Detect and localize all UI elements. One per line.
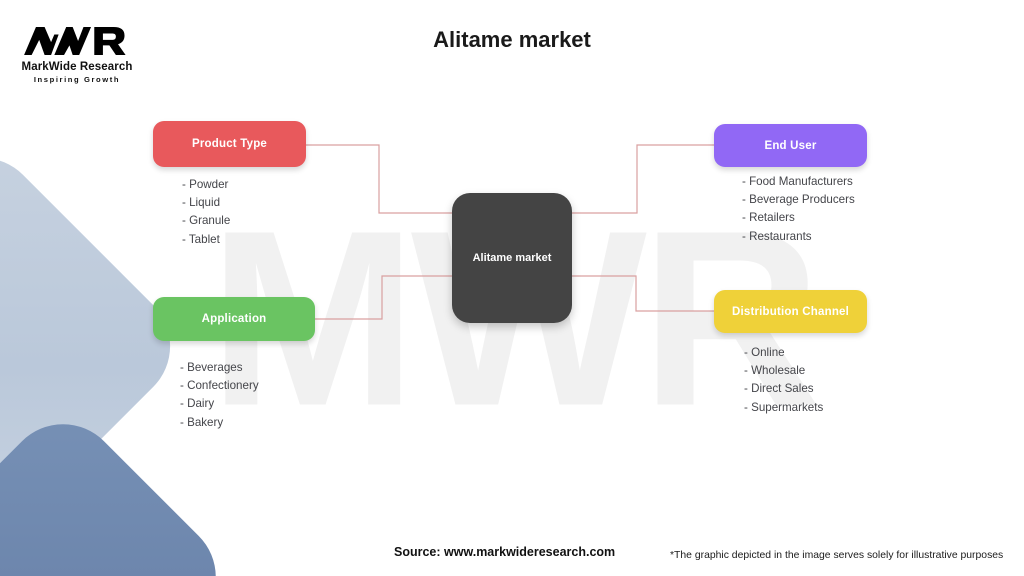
branch-node-end-user[interactable]: End User	[714, 124, 867, 167]
list-item: - Confectionery	[180, 377, 259, 395]
branch-label-end-user: End User	[764, 140, 816, 152]
list-item: - Retailers	[742, 209, 855, 227]
connector-application	[315, 276, 452, 319]
center-node-label: Alitame market	[473, 252, 552, 264]
connector-end-user	[572, 145, 714, 213]
slide-canvas: MWR MarkWide Research Inspiring Growth A…	[0, 0, 1024, 576]
list-item: - Liquid	[182, 194, 230, 212]
list-item: - Beverage Producers	[742, 191, 855, 209]
branch-node-distribution-channel[interactable]: Distribution Channel	[714, 290, 867, 333]
list-item: - Beverages	[180, 359, 259, 377]
bullet-list-distribution-channel: - Online - Wholesale - Direct Sales - Su…	[744, 344, 823, 417]
center-node[interactable]: Alitame market	[452, 193, 572, 323]
list-item: - Powder	[182, 176, 230, 194]
list-item: - Dairy	[180, 395, 259, 413]
list-item: - Supermarkets	[744, 399, 823, 417]
list-item: - Granule	[182, 212, 230, 230]
list-item: - Bakery	[180, 414, 259, 432]
branch-label-application: Application	[202, 313, 267, 325]
source-text: Source: www.markwideresearch.com	[394, 545, 615, 559]
branch-node-product-type[interactable]: Product Type	[153, 121, 306, 167]
list-item: - Wholesale	[744, 362, 823, 380]
connector-product-type	[306, 145, 452, 213]
bullet-list-application: - Beverages - Confectionery - Dairy - Ba…	[180, 359, 259, 432]
bullet-list-product-type: - Powder - Liquid - Granule - Tablet	[182, 176, 230, 249]
list-item: - Restaurants	[742, 228, 855, 246]
branch-label-product-type: Product Type	[192, 138, 267, 150]
connector-distribution-channel	[572, 276, 714, 311]
bullet-list-end-user: - Food Manufacturers - Beverage Producer…	[742, 173, 855, 246]
branch-node-application[interactable]: Application	[153, 297, 315, 341]
list-item: - Online	[744, 344, 823, 362]
disclaimer-text: *The graphic depicted in the image serve…	[670, 550, 1003, 561]
list-item: - Direct Sales	[744, 380, 823, 398]
list-item: - Tablet	[182, 231, 230, 249]
branch-label-distribution-channel: Distribution Channel	[732, 306, 849, 318]
list-item: - Food Manufacturers	[742, 173, 855, 191]
